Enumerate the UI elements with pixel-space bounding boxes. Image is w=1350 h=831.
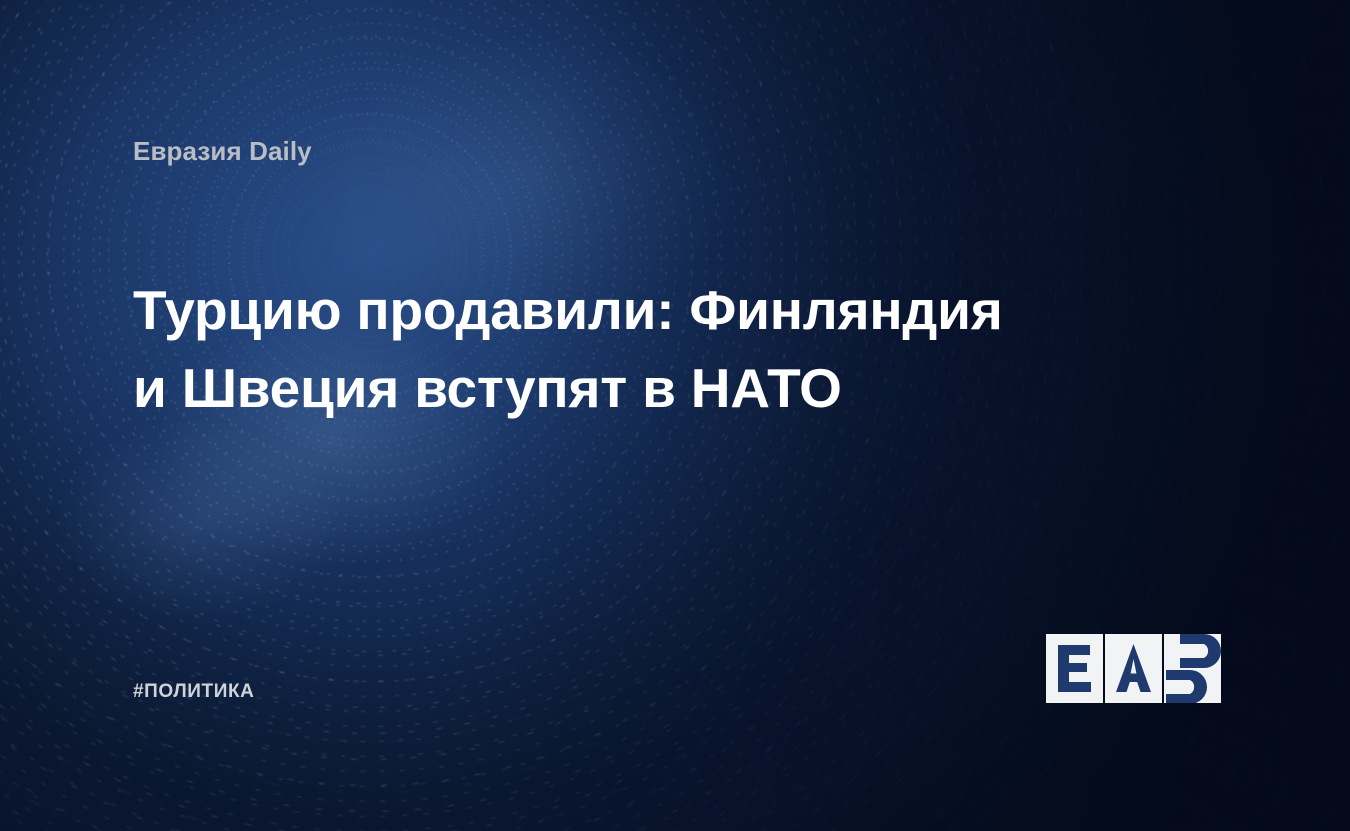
logo-tile-e (1046, 634, 1103, 703)
logo-tile-d (1164, 634, 1221, 703)
headline-line-2: и Швеция вступят в НАТО (133, 349, 1033, 427)
publication-brand: Евразия Daily (133, 136, 312, 167)
headline: Турцию продавили: Финляндия и Швеция вст… (133, 271, 1033, 427)
category-tag: #ПОЛИТИКА (133, 681, 255, 703)
logo-letter-e-icon (1046, 634, 1103, 703)
logo-tile-a (1105, 634, 1162, 703)
logo-letter-d-upper-icon (1178, 616, 1235, 685)
card-content: Евразия Daily Турцию продавили: Финлянди… (0, 0, 1350, 831)
headline-line-1: Турцию продавили: Финляндия (133, 271, 1033, 349)
news-cover-card: Евразия Daily Турцию продавили: Финлянди… (0, 0, 1350, 831)
ead-logo[interactable] (1046, 634, 1222, 703)
logo-letter-a-icon (1105, 634, 1162, 703)
